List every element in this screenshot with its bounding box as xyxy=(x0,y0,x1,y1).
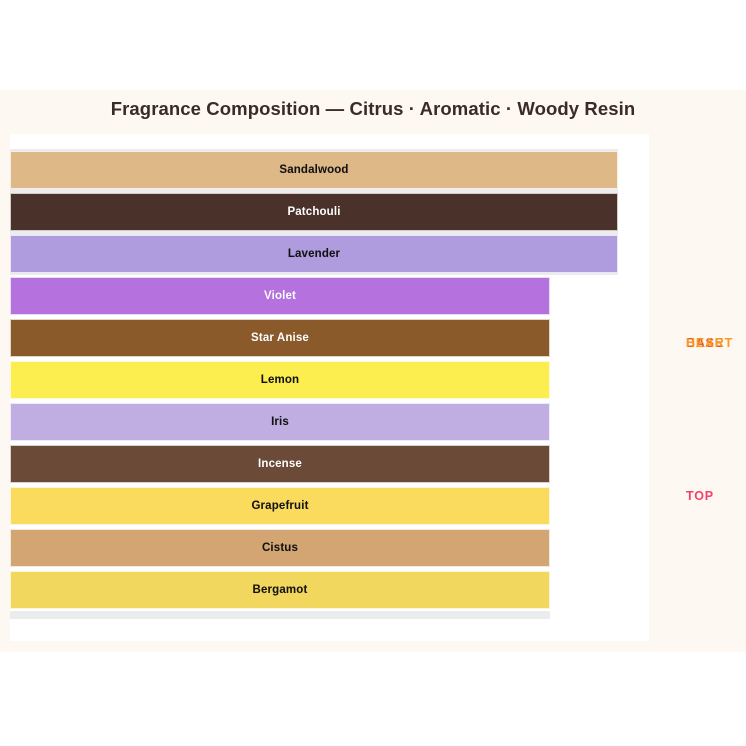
bar-lavender[interactable]: Lavender xyxy=(10,235,618,273)
bar-label: Bergamot xyxy=(253,584,308,596)
bar-grapefruit[interactable]: Grapefruit xyxy=(10,487,550,525)
bar-cistus[interactable]: Cistus xyxy=(10,529,550,567)
annotation-top: TOP xyxy=(686,489,714,503)
bar-track xyxy=(10,611,550,619)
bar-label: Iris xyxy=(271,416,289,428)
bar-label: Lavender xyxy=(288,248,340,260)
bar-label: Lemon xyxy=(261,374,299,386)
bar-lemon[interactable]: Lemon xyxy=(10,361,550,399)
bar-iris[interactable]: Iris xyxy=(10,403,550,441)
annotation-heart: HEART xyxy=(686,336,733,350)
bar-label: Star Anise xyxy=(251,332,309,344)
chart-title: Fragrance Composition — Citrus · Aromati… xyxy=(0,98,746,120)
bar-label: Grapefruit xyxy=(251,500,308,512)
bar-patchouli[interactable]: Patchouli xyxy=(10,193,618,231)
bar-incense[interactable]: Incense xyxy=(10,445,550,483)
bar-label: Violet xyxy=(264,290,296,302)
bar-sandalwood[interactable]: Sandalwood xyxy=(10,151,618,189)
bar-label: Sandalwood xyxy=(279,164,348,176)
bar-label: Patchouli xyxy=(287,206,340,218)
bar-series: SandalwoodPatchouliLavenderVioletStar An… xyxy=(10,134,649,641)
bar-violet[interactable]: Violet xyxy=(10,277,550,315)
chart-screenshot: Fragrance Composition — Citrus · Aromati… xyxy=(0,0,746,746)
bar-label: Incense xyxy=(258,458,302,470)
bar-star-anise[interactable]: Star Anise xyxy=(10,319,550,357)
bar-label: Cistus xyxy=(262,542,298,554)
bar-bergamot[interactable]: Bergamot xyxy=(10,571,550,609)
